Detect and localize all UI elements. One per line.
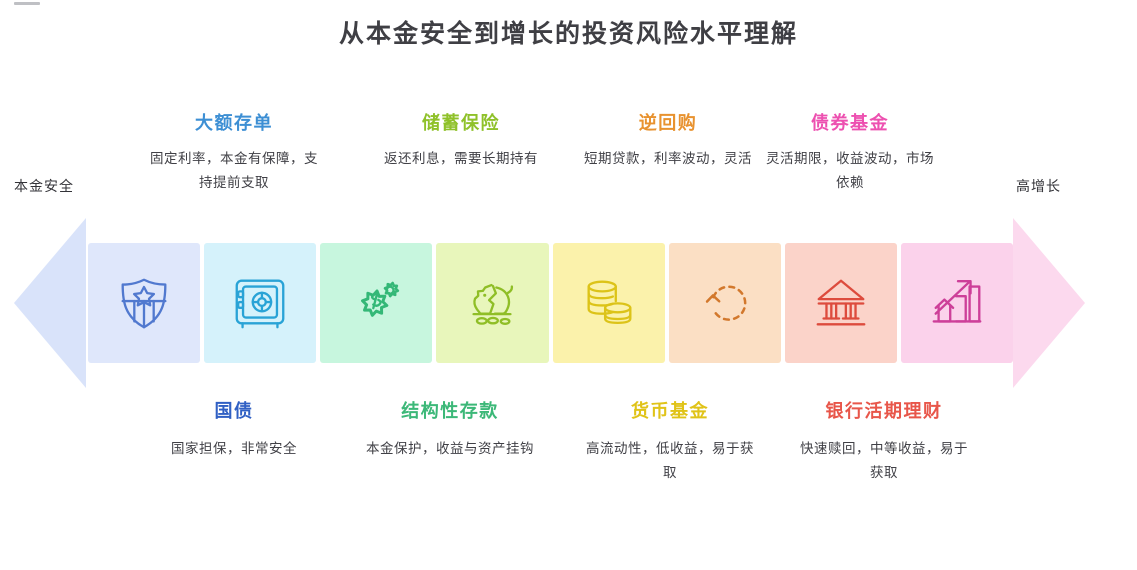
caption-name: 结构性存款 — [360, 400, 540, 423]
caption-top-0: 大额存单 固定利率，本金有保障，支持提前支取 — [144, 112, 324, 195]
tile-safe-vault[interactable] — [204, 243, 316, 363]
icon-tile-row — [88, 243, 1013, 363]
arrow-head-left-icon — [14, 218, 86, 388]
caption-desc: 短期贷款，利率波动，灵活 — [578, 147, 758, 171]
risk-spectrum-band — [0, 218, 1137, 388]
caption-desc: 高流动性，低收益，易于获取 — [580, 437, 760, 484]
caption-name: 货币基金 — [580, 400, 760, 423]
caption-name: 储蓄保险 — [371, 112, 551, 135]
shield-star-icon — [113, 272, 175, 334]
growth-chart-icon — [926, 272, 988, 334]
tile-coin-stack[interactable] — [553, 243, 665, 363]
tile-broken-piggy[interactable] — [436, 243, 548, 363]
caption-name: 逆回购 — [578, 112, 758, 135]
arrow-head-right-icon — [1013, 218, 1085, 388]
caption-desc: 返还利息，需要长期持有 — [371, 147, 551, 171]
tile-growth-chart[interactable] — [901, 243, 1013, 363]
caption-desc: 本金保护，收益与资产挂钩 — [360, 437, 540, 461]
page-title: 从本金安全到增长的投资风险水平理解 — [0, 14, 1137, 50]
caption-bottom-1: 结构性存款 本金保护，收益与资产挂钩 — [360, 400, 540, 461]
safe-vault-icon — [229, 272, 291, 334]
caption-name: 国债 — [144, 400, 324, 423]
coin-stack-icon — [578, 272, 640, 334]
caption-bottom-0: 国债 国家担保，非常安全 — [144, 400, 324, 461]
dashed-refresh-icon — [694, 272, 756, 334]
gears-dollar-icon — [345, 272, 407, 334]
tile-dashed-refresh[interactable] — [669, 243, 781, 363]
caption-desc: 国家担保，非常安全 — [144, 437, 324, 461]
window-chrome-fragment — [14, 2, 40, 5]
caption-desc: 快速赎回，中等收益，易于获取 — [794, 437, 974, 484]
caption-desc: 灵活期限，收益波动，市场依赖 — [760, 147, 940, 194]
bank-building-icon — [810, 272, 872, 334]
caption-name: 债券基金 — [760, 112, 940, 135]
caption-desc: 固定利率，本金有保障，支持提前支取 — [144, 147, 324, 194]
tile-bank-building[interactable] — [785, 243, 897, 363]
tile-gears-dollar[interactable] — [320, 243, 432, 363]
caption-top-1: 储蓄保险 返还利息，需要长期持有 — [371, 112, 551, 171]
broken-piggy-icon — [461, 272, 523, 334]
caption-bottom-3: 银行活期理财 快速赎回，中等收益，易于获取 — [794, 400, 974, 485]
caption-top-3: 债券基金 灵活期限，收益波动，市场依赖 — [760, 112, 940, 195]
caption-top-2: 逆回购 短期贷款，利率波动，灵活 — [578, 112, 758, 171]
axis-label-right: 高增长 — [1016, 176, 1061, 196]
caption-bottom-2: 货币基金 高流动性，低收益，易于获取 — [580, 400, 760, 485]
tile-shield-star[interactable] — [88, 243, 200, 363]
axis-label-left: 本金安全 — [14, 176, 74, 196]
caption-name: 银行活期理财 — [794, 400, 974, 423]
caption-name: 大额存单 — [144, 112, 324, 135]
